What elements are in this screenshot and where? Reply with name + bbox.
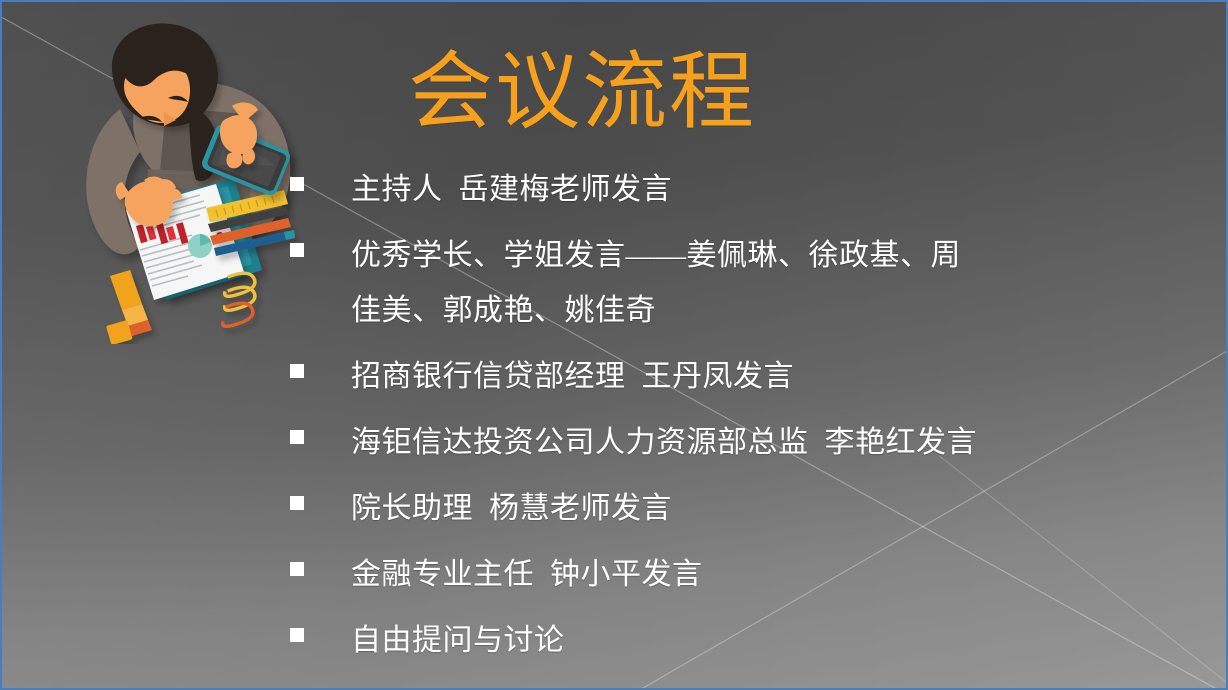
slide-title: 会议流程 <box>408 50 756 135</box>
list-item-label: 自由提问与讨论 <box>351 613 1060 668</box>
square-bullet-icon <box>290 496 304 510</box>
list-item: 招商银行信贷部经理 王丹凤发言 <box>290 349 1060 404</box>
list-item: 优秀学长、学姐发言——姜佩琳、徐政基、周 佳美、郭成艳、姚佳奇 <box>290 228 1060 338</box>
list-item-label: 海钜信达投资公司人力资源部总监 李艳红发言 <box>351 415 1060 470</box>
list-item: 自由提问与讨论 <box>290 613 1060 668</box>
square-bullet-icon <box>290 562 304 576</box>
list-item: 院长助理 杨慧老师发言 <box>290 481 1060 536</box>
square-bullet-icon <box>290 364 304 378</box>
presentation-slide: 会议流程 主持人 岳建梅老师发言 优秀学长、学姐发言——姜佩琳、徐政基、周 佳美… <box>0 0 1228 690</box>
list-item: 主持人 岳建梅老师发言 <box>290 162 1060 217</box>
square-bullet-icon <box>290 628 304 642</box>
orange-highlighter <box>106 270 152 344</box>
list-item-label: 院长助理 杨慧老师发言 <box>351 481 1060 536</box>
square-bullet-icon <box>290 430 304 444</box>
list-item-label: 招商银行信贷部经理 王丹凤发言 <box>351 349 1060 404</box>
list-item-label: 主持人 岳建梅老师发言 <box>351 162 1060 217</box>
list-item-label: 优秀学长、学姐发言——姜佩琳、徐政基、周 佳美、郭成艳、姚佳奇 <box>351 228 1060 338</box>
list-item: 金融专业主任 钟小平发言 <box>290 547 1060 602</box>
document-pie-chart <box>188 234 212 258</box>
bullet-list: 主持人 岳建梅老师发言 优秀学长、学姐发言——姜佩琳、徐政基、周 佳美、郭成艳、… <box>290 162 1060 679</box>
square-bullet-icon <box>290 243 304 257</box>
square-bullet-icon <box>290 177 304 191</box>
list-item: 海钜信达投资公司人力资源部总监 李艳红发言 <box>290 415 1060 470</box>
list-item-label: 金融专业主任 钟小平发言 <box>351 547 1060 602</box>
